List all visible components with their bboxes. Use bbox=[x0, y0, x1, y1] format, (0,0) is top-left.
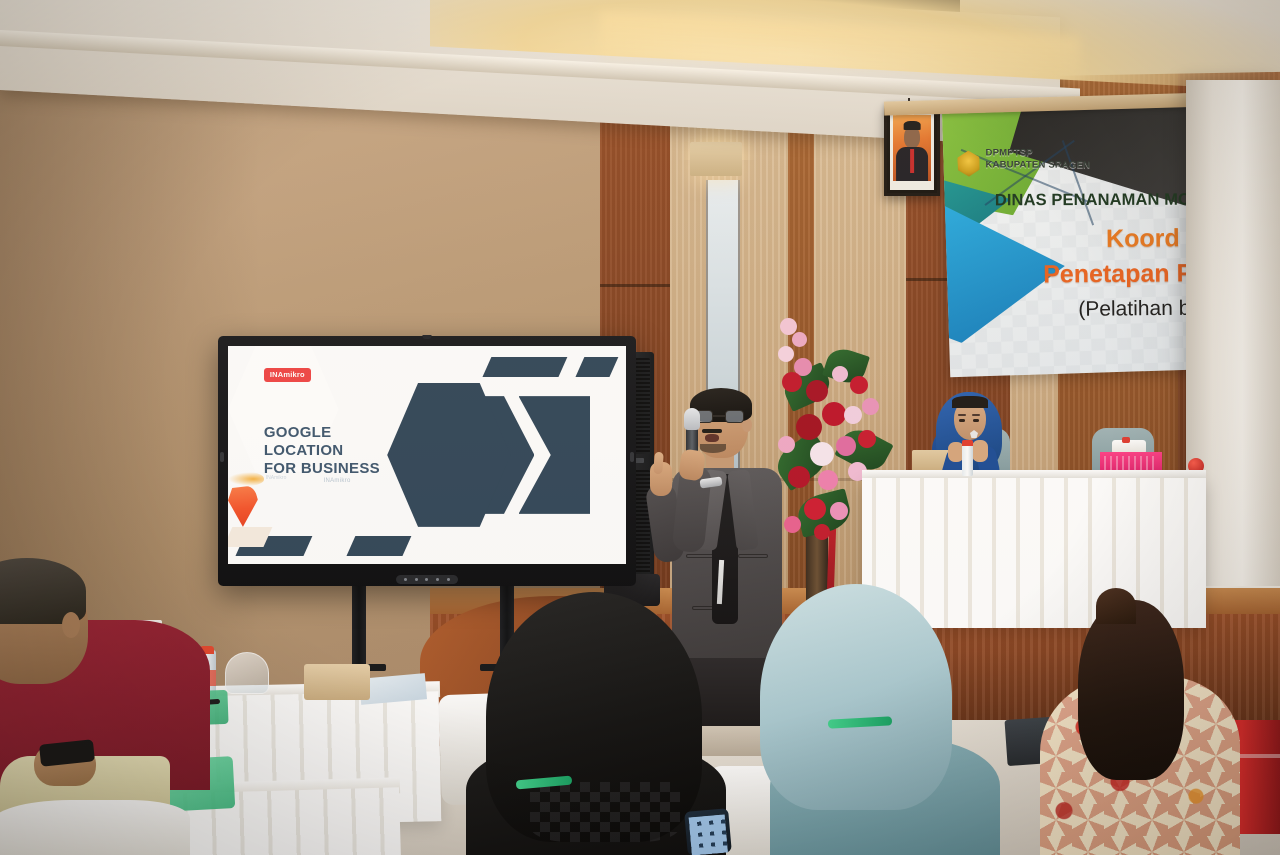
interactive-display[interactable]: INAmikro GOOGLE LOCATION FOR BUSINESS IN… bbox=[218, 336, 636, 586]
slide-title-line-1: GOOGLE bbox=[264, 424, 332, 441]
slide-shape-top-2 bbox=[576, 357, 619, 377]
banner-department: DPMPTSP KABUPATEN SRAGEN bbox=[985, 147, 1135, 171]
slide-footnote: INAmikro bbox=[266, 475, 287, 483]
woman-hair bbox=[952, 396, 988, 408]
smartphone[interactable] bbox=[684, 808, 732, 855]
banner-dept-line1: DPMPTSP bbox=[986, 147, 1033, 158]
presentation-slide: INAmikro GOOGLE LOCATION FOR BUSINESS IN… bbox=[228, 346, 626, 564]
slide-title: GOOGLE LOCATION FOR BUSINESS bbox=[264, 424, 380, 477]
banner-dept-line2: KABUPATEN SRAGEN bbox=[985, 159, 1090, 170]
display-camera-icon bbox=[423, 335, 432, 339]
slide-shape-top-1 bbox=[482, 357, 566, 377]
glasses-icon bbox=[694, 410, 744, 423]
woman-hand-right bbox=[972, 440, 988, 462]
microphone-icon[interactable] bbox=[684, 408, 700, 430]
slide-subtitle: INAmikro bbox=[324, 478, 351, 484]
wall-sconce bbox=[690, 142, 742, 176]
snack-box-front[interactable] bbox=[304, 664, 370, 700]
presenter-mustache bbox=[702, 429, 722, 433]
audience-batik-hair-top bbox=[1096, 588, 1136, 624]
display-screen[interactable]: INAmikro GOOGLE LOCATION FOR BUSINESS IN… bbox=[228, 346, 626, 564]
slide-shape-bottom-3 bbox=[347, 536, 411, 556]
official-portrait bbox=[884, 106, 940, 196]
seminar-room-photo: DPMPTSP KABUPATEN SRAGEN DINAS PENANAMAN… bbox=[0, 0, 1280, 855]
head-table-skirt bbox=[862, 478, 1206, 628]
audience-batik-hair bbox=[1078, 600, 1184, 780]
display-leg-left bbox=[352, 582, 366, 668]
light-blue-hijab bbox=[760, 584, 952, 810]
bottle-cap bbox=[962, 440, 973, 446]
water-bottle-table[interactable] bbox=[962, 444, 973, 476]
pin-swoosh bbox=[228, 472, 264, 485]
presenter-index-finger bbox=[653, 452, 664, 475]
slide-title-line-2: LOCATION bbox=[264, 442, 344, 459]
display-controls[interactable] bbox=[396, 575, 458, 584]
presenter-mouth bbox=[705, 434, 719, 442]
covered-drinking-glass[interactable] bbox=[225, 652, 269, 694]
black-hijab bbox=[486, 592, 702, 842]
slide-logo: INAmikro bbox=[264, 368, 311, 382]
foreground-white-cloth bbox=[0, 800, 190, 855]
audience-man-maroon-ear bbox=[62, 612, 80, 638]
tissue-red-mark bbox=[1122, 437, 1130, 443]
presenter-beard bbox=[700, 444, 726, 453]
map-pin-icon bbox=[228, 486, 258, 527]
